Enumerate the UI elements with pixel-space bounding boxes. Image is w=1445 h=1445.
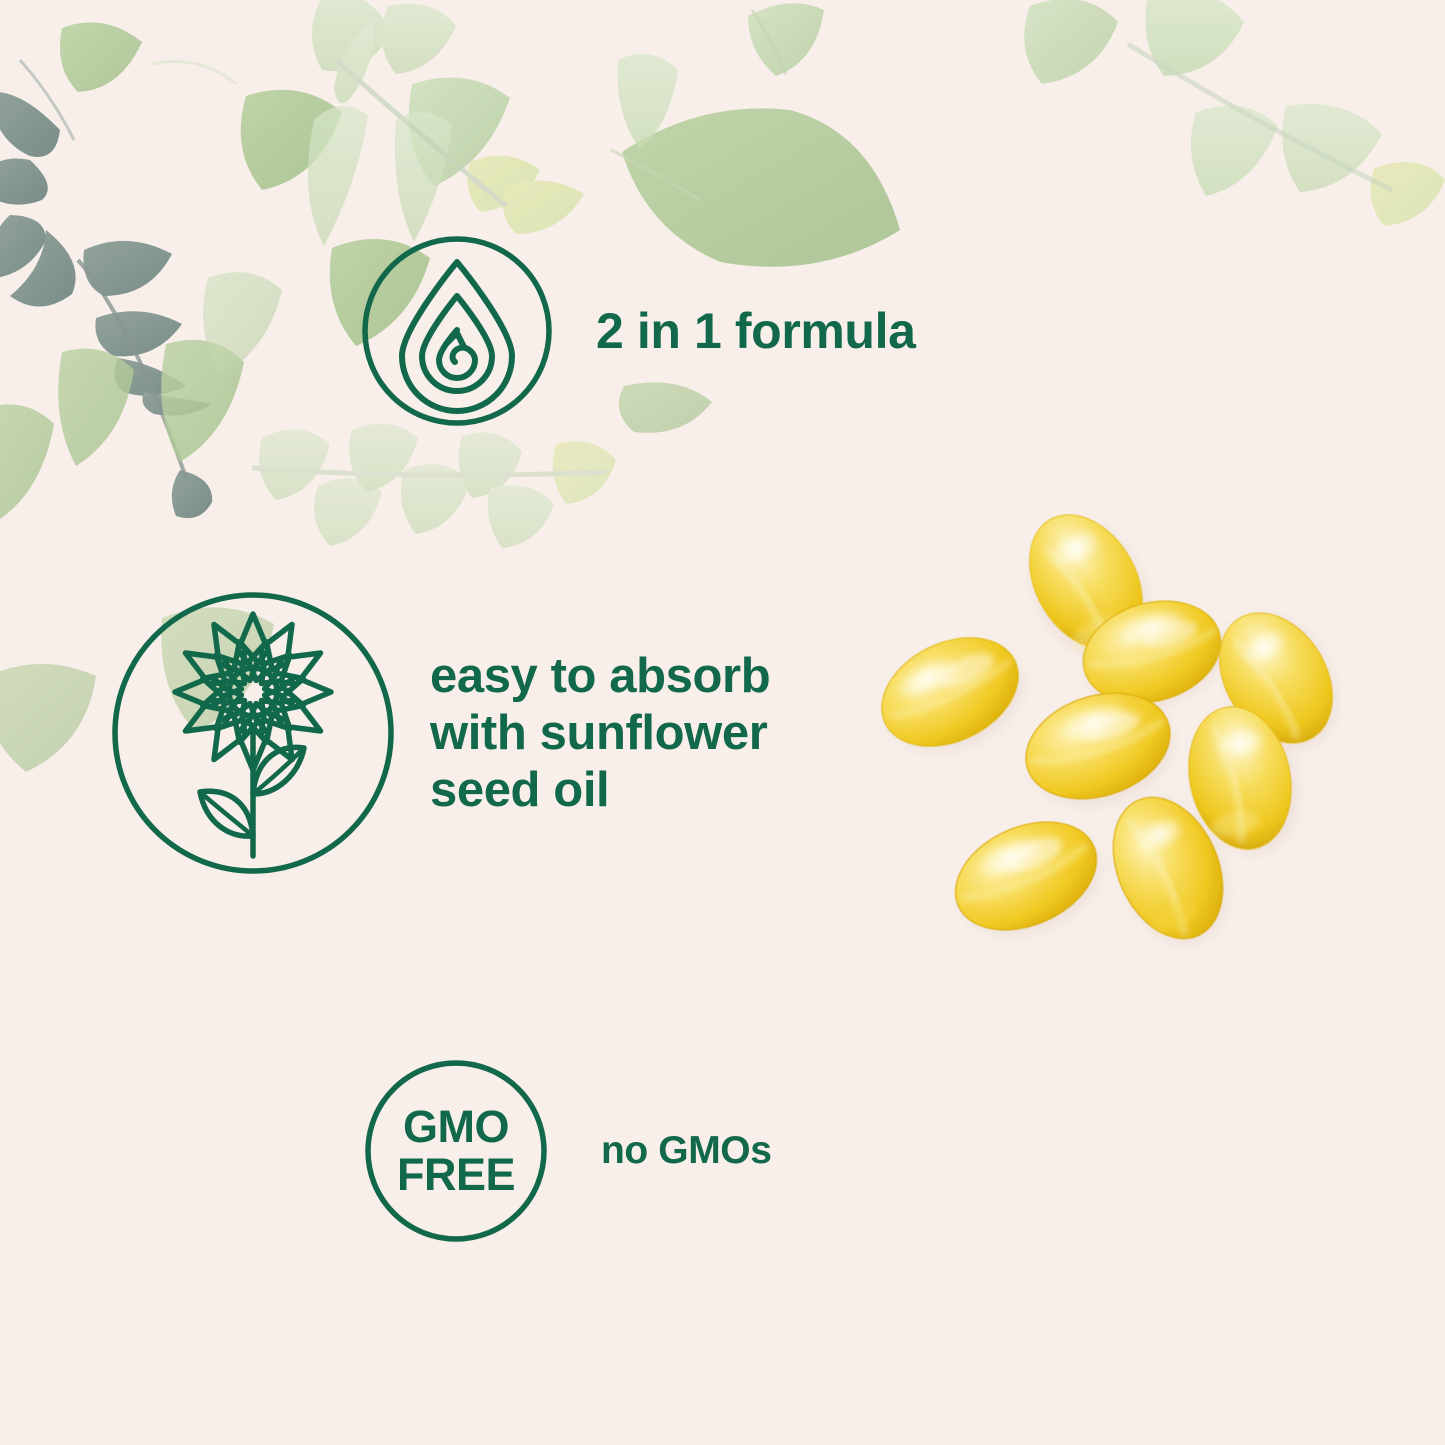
- leaf: [0, 664, 96, 772]
- water-droplet-spiral-icon: [360, 234, 554, 428]
- leaf: [617, 54, 678, 150]
- gmo-free-icon: GMO FREE: [363, 1058, 549, 1244]
- product-feature-graphic: 2 in 1 formula: [0, 0, 1445, 1445]
- leaf: [152, 62, 236, 85]
- leaf: [0, 404, 54, 522]
- capsule: [938, 801, 1113, 951]
- pale-eucalyptus-string: [252, 424, 616, 548]
- gmo-free-badge-text: GMO FREE: [363, 1058, 549, 1244]
- leaf: [58, 349, 134, 466]
- leaf: [203, 272, 282, 376]
- dark-eucalyptus-branch: [0, 60, 212, 518]
- leaf: [1128, 44, 1392, 190]
- gmo-badge-line-1: GMO: [403, 1103, 509, 1151]
- feature-label-formula: 2 in 1 formula: [596, 303, 915, 359]
- feature-row-absorb: easy to absorb with sunflower seed oil: [108, 588, 770, 878]
- leaf: [241, 90, 342, 190]
- leaf: [1024, 0, 1118, 84]
- feature-row-gmo: GMO FREE no GMOs: [363, 1058, 772, 1244]
- leaf: [611, 150, 700, 200]
- feature-label-absorb: easy to absorb with sunflower seed oil: [430, 648, 770, 819]
- leaf: [1145, 0, 1244, 76]
- leaf: [748, 3, 824, 76]
- leaf: [60, 22, 142, 92]
- softgel-capsules-image: [862, 482, 1340, 960]
- sunflower-icon: [108, 588, 398, 878]
- feature-label-gmo: no GMOs: [601, 1128, 772, 1174]
- leaf: [1191, 106, 1278, 196]
- leaf: [1371, 162, 1445, 226]
- feature-row-formula: 2 in 1 formula: [360, 234, 915, 428]
- leaf: [409, 78, 510, 186]
- leaf: [161, 340, 244, 462]
- gmo-badge-line-2: FREE: [397, 1151, 515, 1199]
- leaf: [1282, 104, 1382, 192]
- pale-eucalyptus-sprig: [308, 0, 584, 246]
- leaf: [752, 10, 786, 74]
